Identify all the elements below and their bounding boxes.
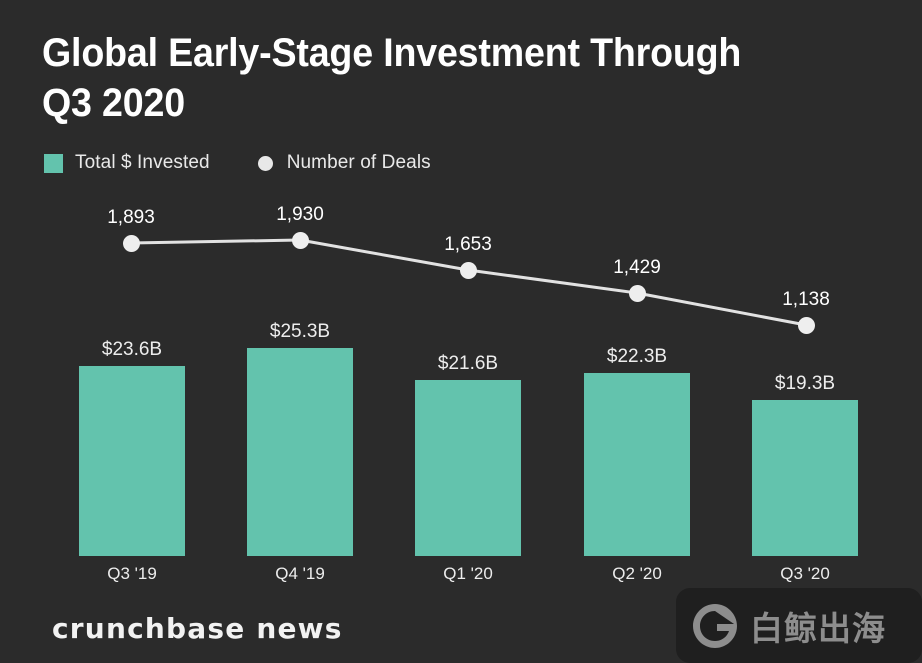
point-value-label: 1,893 [78, 207, 184, 229]
data-point-marker[interactable] [292, 232, 309, 249]
x-axis-label-q3-20: Q3 '20 [752, 564, 858, 584]
data-point-marker[interactable] [629, 285, 646, 302]
whale-g-circle-icon [690, 601, 740, 651]
x-axis-label-q1-20: Q1 '20 [415, 564, 521, 584]
point-value-label: 1,930 [247, 204, 353, 226]
plot-area: $23.6B $25.3B $21.6B $22.3B $19.3B 1,893… [0, 0, 922, 600]
x-axis-label-q2-20: Q2 '20 [584, 564, 690, 584]
point-value-label: 1,138 [753, 289, 859, 311]
chart-page: Global Early-Stage Investment Through Q3… [0, 0, 922, 663]
brand-footer: crunchbase news [52, 612, 343, 645]
watermark-text: 白鲸出海 [750, 602, 886, 650]
data-point-marker[interactable] [123, 235, 140, 252]
watermark: 白鲸出海 [676, 588, 922, 663]
x-axis-label-q3-19: Q3 '19 [79, 564, 185, 584]
point-value-label: 1,653 [415, 234, 521, 256]
data-point-marker[interactable] [460, 262, 477, 279]
x-axis-label-q4-19: Q4 '19 [247, 564, 353, 584]
point-value-label: 1,429 [584, 257, 690, 279]
data-point-marker[interactable] [798, 317, 815, 334]
